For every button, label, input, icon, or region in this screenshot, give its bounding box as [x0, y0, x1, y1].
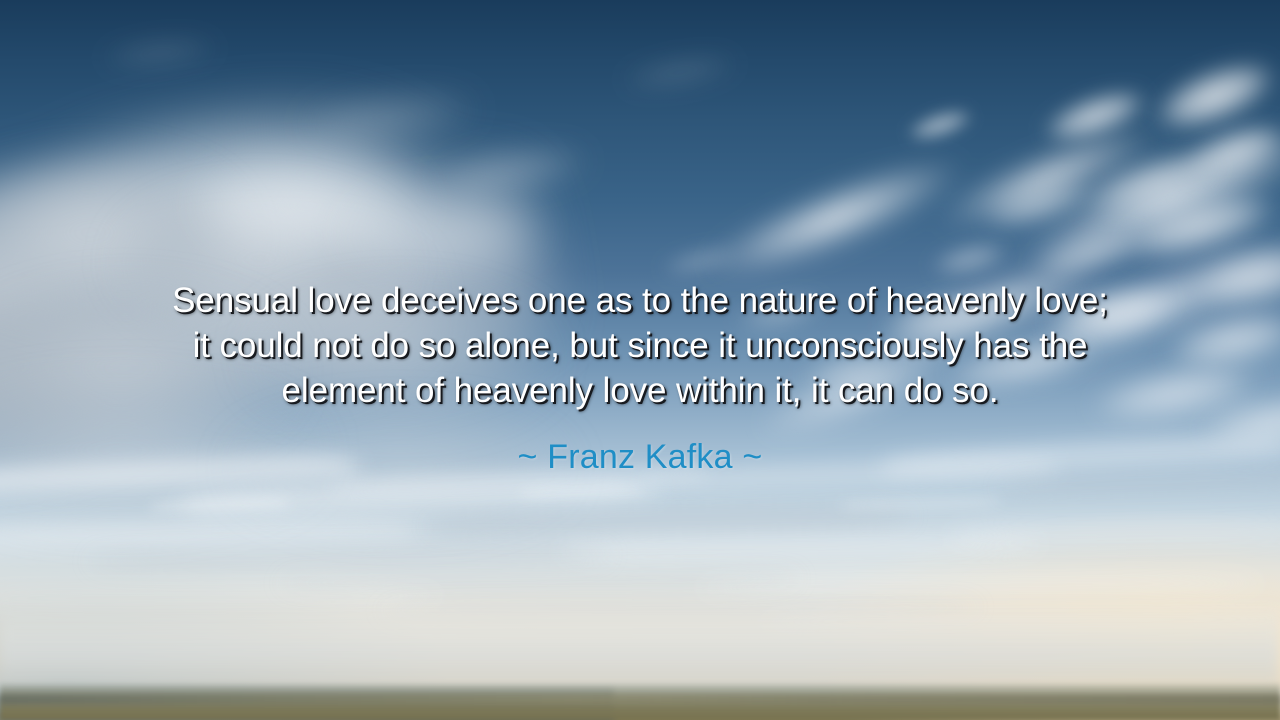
quote-text-block: Sensual love deceives one as to the natu…	[0, 278, 1280, 413]
quote-line-3: element of heavenly love within it, it c…	[40, 368, 1240, 413]
horizon-haze-band	[0, 600, 1280, 690]
cloud-puff	[99, 34, 221, 72]
quote-wallpaper: Sensual love deceives one as to the natu…	[0, 0, 1280, 720]
quote-attribution: ~ Franz Kafka ~	[0, 436, 1280, 478]
quote-line-2: it could not do so alone, but since it u…	[40, 323, 1240, 368]
quote-line-1: Sensual love deceives one as to the natu…	[40, 278, 1240, 323]
cloud-puff	[619, 50, 741, 94]
cloud-highlight	[330, 185, 550, 275]
distant-land-detail	[0, 695, 1280, 704]
